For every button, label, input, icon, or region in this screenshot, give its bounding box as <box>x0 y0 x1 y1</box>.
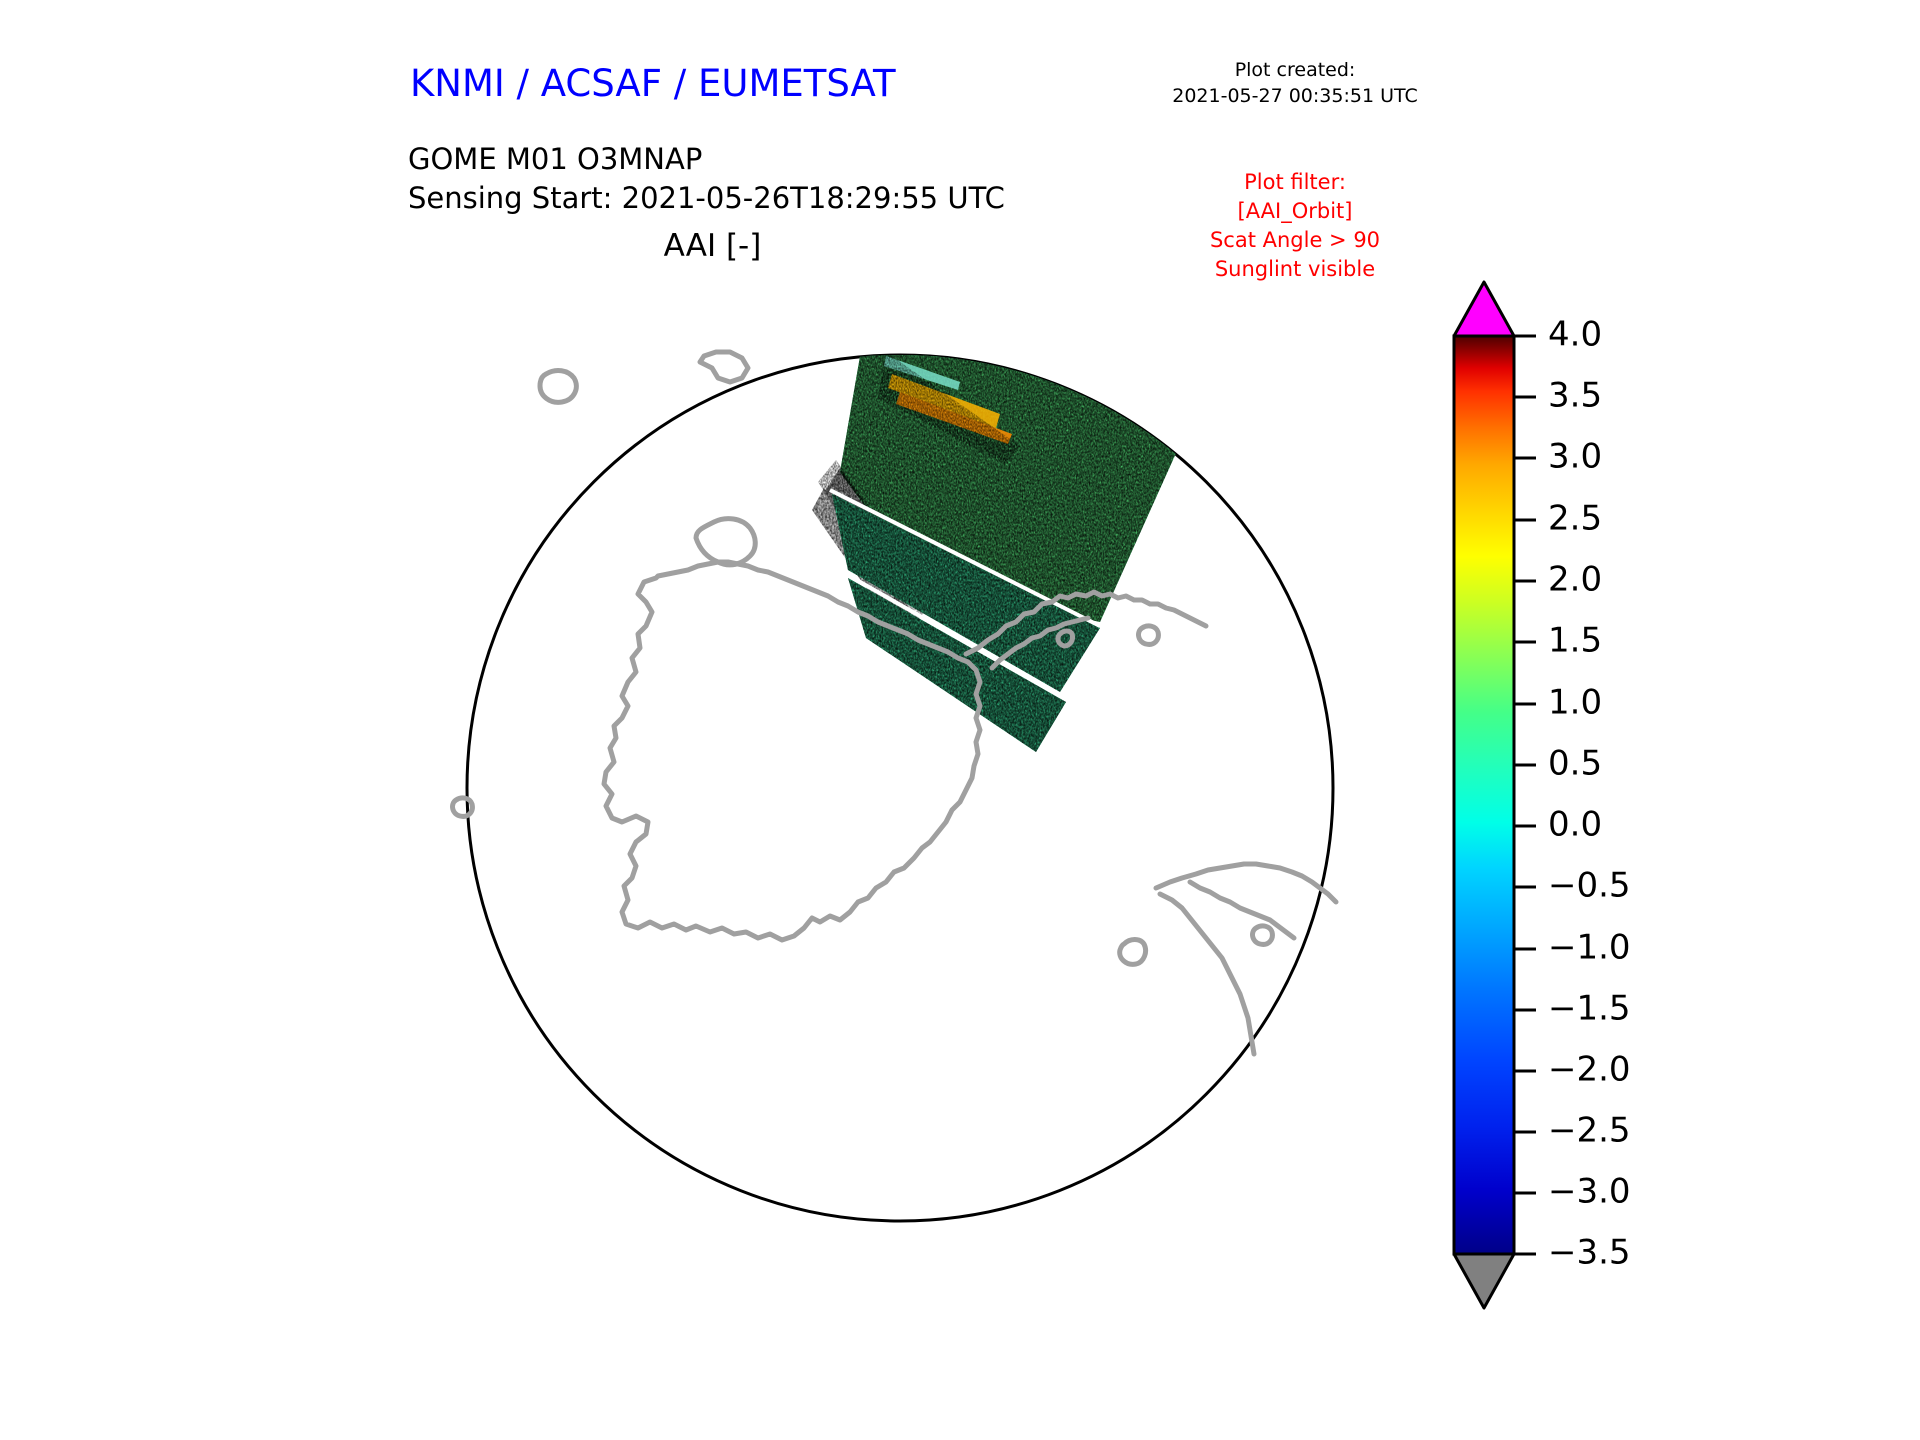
colorbar-tick-label: 2.0 <box>1548 560 1602 600</box>
colorbar-tick-label: 0.5 <box>1548 744 1602 784</box>
colorbar-tick-label: −3.5 <box>1548 1233 1631 1273</box>
map-svg <box>400 282 1410 1302</box>
colorbar-tick-label: 1.5 <box>1548 621 1602 661</box>
colorbar-tick-label: −1.0 <box>1548 928 1631 968</box>
organisation-title: KNMI / ACSAF / EUMETSAT <box>410 62 896 105</box>
colorbar-gradient <box>1454 336 1514 1254</box>
plot-created-value: 2021-05-27 00:35:51 UTC <box>1150 84 1440 110</box>
colorbar-under-arrow <box>1454 1254 1514 1308</box>
coastline-island-south-sandwich <box>540 371 576 403</box>
colorbar-tick-label: 4.0 <box>1548 315 1602 355</box>
map-panel <box>400 282 1410 1302</box>
colorbar-tick-label: −0.5 <box>1548 866 1631 906</box>
instrument-line: GOME M01 O3MNAP <box>408 140 1005 179</box>
plot-created-label: Plot created: <box>1150 58 1440 84</box>
colorbar-panel: 4.0 3.5 3.0 2.5 2.0 1.5 1.0 0.5 0.0 −0.5… <box>1440 280 1740 1310</box>
colorbar-ticks <box>1514 336 1536 1254</box>
plot-created-block: Plot created: 2021-05-27 00:35:51 UTC <box>1150 58 1440 109</box>
plot-filter-block: Plot filter: [AAI_Orbit] Scat Angle > 90… <box>1160 168 1430 284</box>
colorbar-tick-label: 3.5 <box>1548 376 1602 416</box>
filter-line-product: [AAI_Orbit] <box>1160 197 1430 226</box>
colorbar-over-arrow <box>1454 282 1514 336</box>
filter-line-title: Plot filter: <box>1160 168 1430 197</box>
colorbar-tick-label: 3.0 <box>1548 437 1602 477</box>
plot-page: KNMI / ACSAF / EUMETSAT Plot created: 20… <box>0 0 1920 1440</box>
colorbar-tick-label: −2.5 <box>1548 1111 1631 1151</box>
sensing-start-line: Sensing Start: 2021-05-26T18:29:55 UTC <box>408 179 1005 218</box>
dataset-meta-block: GOME M01 O3MNAP Sensing Start: 2021-05-2… <box>408 140 1005 217</box>
colorbar-tick-labels: 4.0 3.5 3.0 2.5 2.0 1.5 1.0 0.5 0.0 −0.5… <box>1548 315 1631 1273</box>
colorbar-svg: 4.0 3.5 3.0 2.5 2.0 1.5 1.0 0.5 0.0 −0.5… <box>1440 280 1740 1310</box>
colorbar-tick-label: −1.5 <box>1548 989 1631 1029</box>
filter-line-scat-angle: Scat Angle > 90 <box>1160 226 1430 255</box>
filter-line-sunglint: Sunglint visible <box>1160 255 1430 284</box>
colorbar-tick-label: 0.0 <box>1548 805 1602 845</box>
colorbar-tick-label: 1.0 <box>1548 683 1602 723</box>
colorbar-tick-label: −3.0 <box>1548 1172 1631 1212</box>
colorbar-tick-label: −2.0 <box>1548 1050 1631 1090</box>
colorbar-tick-label: 2.5 <box>1548 499 1602 539</box>
coastline-island-south-georgia <box>700 352 748 382</box>
